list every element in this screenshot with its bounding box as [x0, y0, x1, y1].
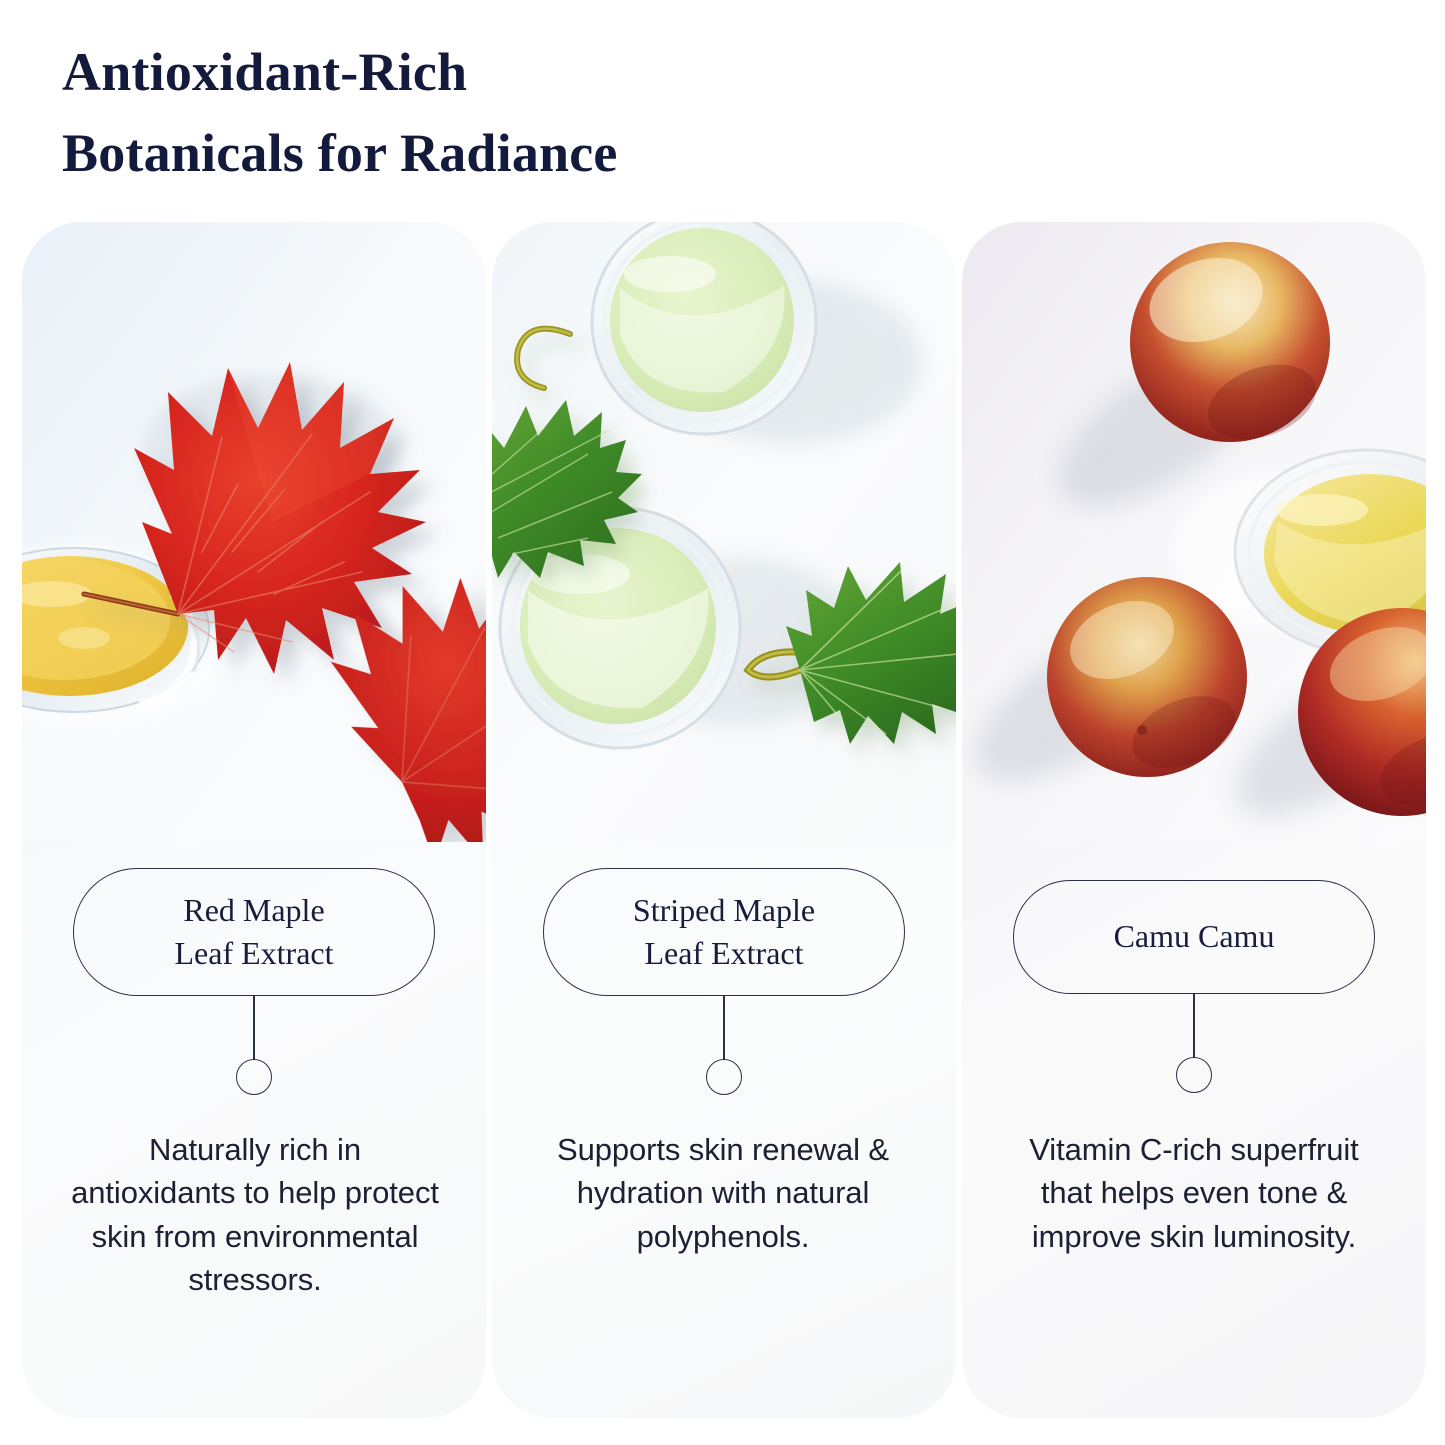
photo-camu-camu [962, 222, 1426, 842]
connector-line-red-maple [253, 996, 255, 1060]
connector-line-striped-maple [723, 996, 725, 1060]
ingredient-label-red-maple[interactable]: Red Maple Leaf Extract [73, 868, 435, 996]
ingredient-description-striped-maple: Supports skin renewal & hydration with n… [528, 1128, 918, 1258]
striped-maple-illustration [492, 222, 956, 842]
camu-camu-illustration [962, 222, 1426, 842]
ingredient-label-striped-maple[interactable]: Striped Maple Leaf Extract [543, 868, 905, 996]
connector-dot-striped-maple [706, 1059, 742, 1095]
connector-dot-red-maple [236, 1059, 272, 1095]
ingredient-label-camu-camu[interactable]: Camu Camu [1013, 880, 1375, 994]
ingredient-description-red-maple: Naturally rich in antioxidants to help p… [70, 1128, 440, 1302]
red-maple-illustration [22, 222, 486, 842]
ingredient-description-camu-camu: Vitamin C-rich superfruit that helps eve… [1008, 1128, 1380, 1258]
connector-dot-camu-camu [1176, 1057, 1212, 1093]
infographic-page: Antioxidant-Rich Botanicals for Radiance [0, 0, 1445, 1445]
connector-line-camu-camu [1193, 994, 1195, 1058]
photo-striped-maple [492, 222, 956, 842]
photo-red-maple [22, 222, 486, 842]
page-title: Antioxidant-Rich Botanicals for Radiance [62, 32, 962, 194]
